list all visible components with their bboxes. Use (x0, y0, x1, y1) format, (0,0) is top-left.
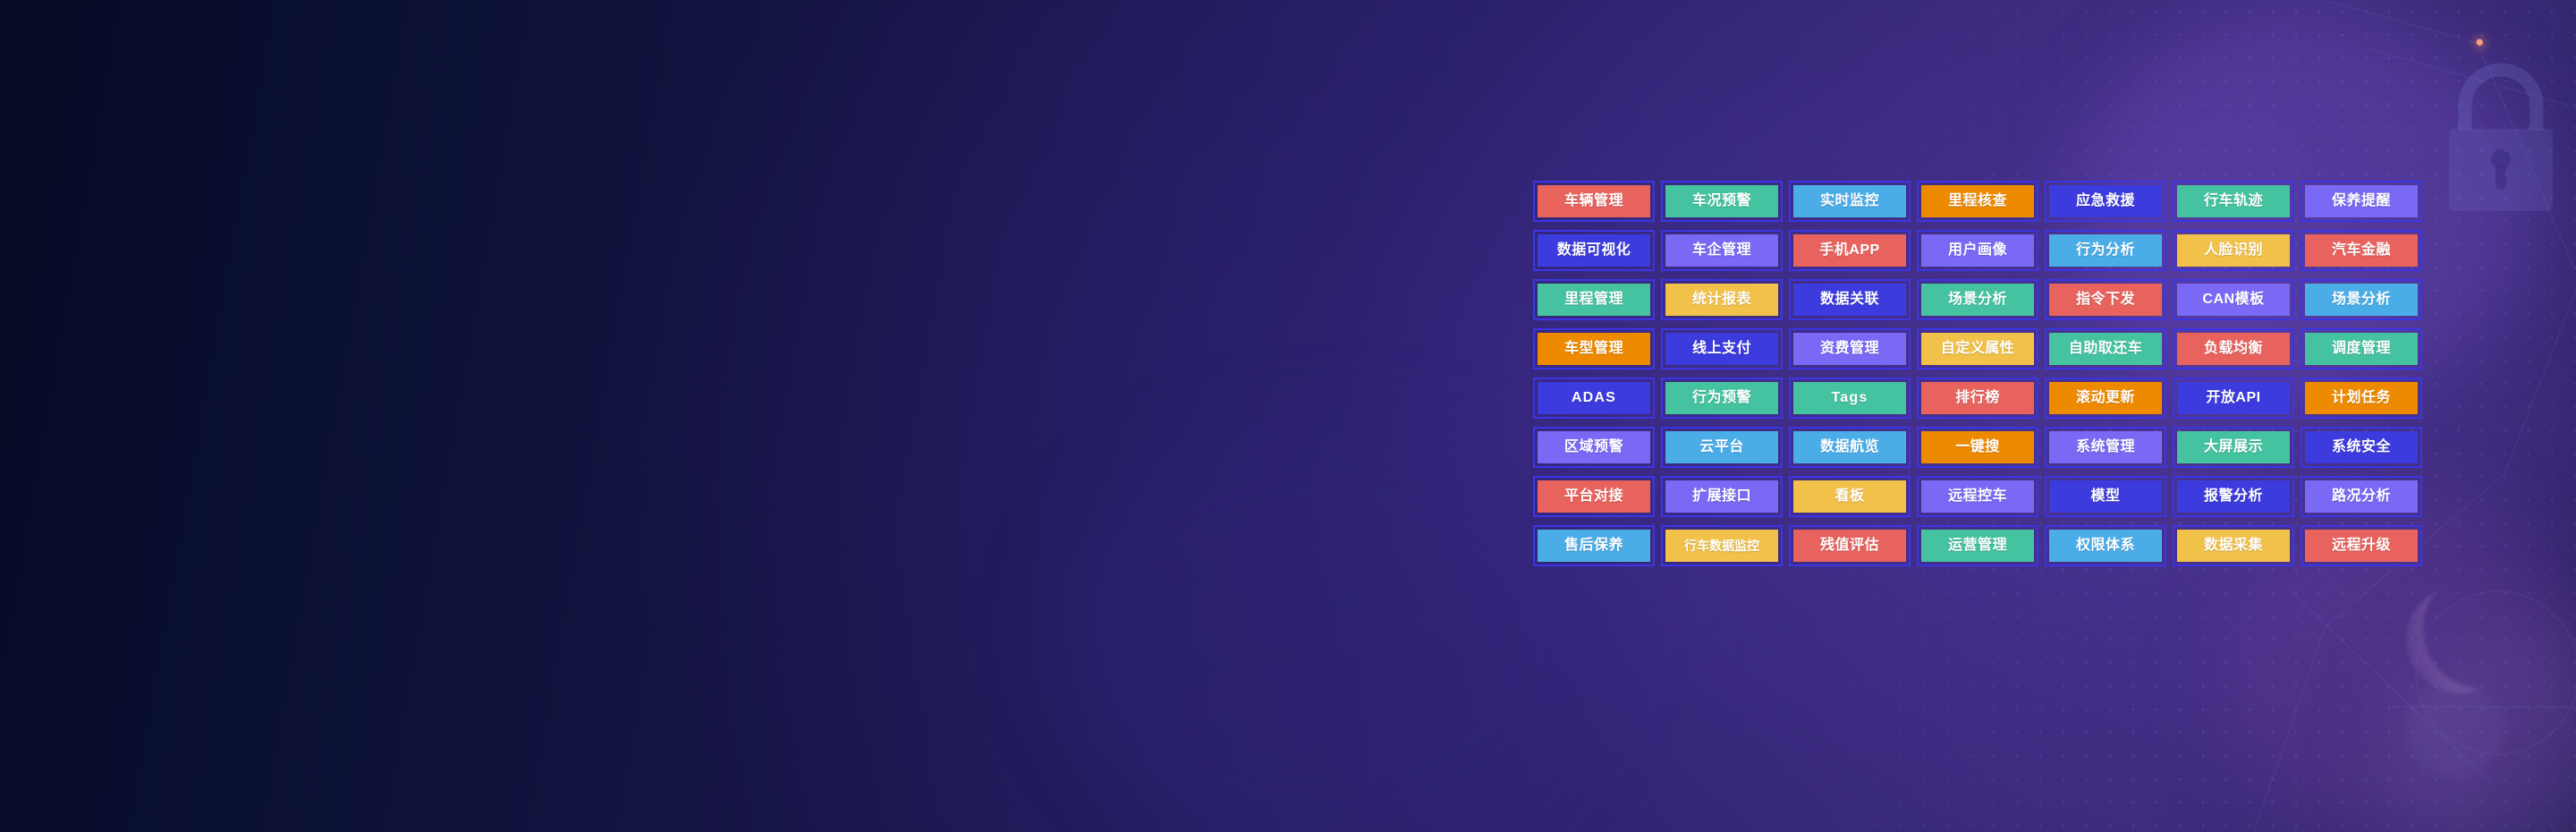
tile-frame[interactable]: 实时监控 (1789, 181, 1911, 222)
feature-tile[interactable]: 扩展接口 (1665, 480, 1778, 513)
feature-tile[interactable]: 车企管理 (1665, 234, 1778, 267)
feature-tile[interactable]: 系统安全 (2305, 431, 2418, 463)
feature-tile[interactable]: 车辆管理 (1538, 185, 1650, 217)
feature-tile[interactable]: 指令下发 (2049, 284, 2162, 316)
tile-frame[interactable]: 车型管理 (1533, 328, 1655, 369)
tile-frame[interactable]: 手机APP (1789, 230, 1911, 271)
tile-frame[interactable]: 一键搜 (1917, 427, 2038, 468)
feature-tile[interactable]: 报警分析 (2177, 480, 2290, 513)
feature-tile[interactable]: 场景分析 (2305, 284, 2418, 316)
tile-frame[interactable]: 行车轨迹 (2173, 181, 2294, 222)
tile-frame[interactable]: 应急救援 (2045, 181, 2166, 222)
feature-tile[interactable]: 行车数据监控 (1665, 530, 1778, 562)
feature-tile[interactable]: ADAS (1538, 382, 1650, 414)
feature-tile[interactable]: 车况预警 (1665, 185, 1778, 217)
feature-tile[interactable]: 行为分析 (2049, 234, 2162, 267)
tile-frame[interactable]: 行为预警 (1661, 378, 1783, 419)
tile-frame[interactable]: 车辆管理 (1533, 181, 1655, 222)
feature-tile[interactable]: 数据采集 (2177, 530, 2290, 562)
feature-tile[interactable]: 用户画像 (1921, 234, 2034, 267)
feature-tile[interactable]: 线上支付 (1665, 333, 1778, 365)
tile-frame[interactable]: 线上支付 (1661, 328, 1783, 369)
tile-frame[interactable]: 保养提醒 (2301, 181, 2422, 222)
tile-frame[interactable]: 运营管理 (1917, 525, 2038, 566)
tile-frame[interactable]: 扩展接口 (1661, 476, 1783, 517)
tile-frame[interactable]: 数据可视化 (1533, 230, 1655, 271)
tile-frame[interactable]: 指令下发 (2045, 279, 2166, 320)
feature-tile[interactable]: 数据航览 (1793, 431, 1906, 463)
feature-tile[interactable]: 远程控车 (1921, 480, 2034, 513)
tile-frame[interactable]: 计划任务 (2301, 378, 2422, 419)
crescent-shape (2406, 586, 2513, 693)
tile-frame[interactable]: 平台对接 (1533, 476, 1655, 517)
tile-frame[interactable]: 路况分析 (2301, 476, 2422, 517)
decor-ring (2415, 590, 2576, 755)
tile-frame[interactable]: 车企管理 (1661, 230, 1783, 271)
tile-frame[interactable]: ADAS (1533, 378, 1655, 419)
feature-tile[interactable]: 统计报表 (1665, 284, 1778, 316)
tile-frame[interactable]: 售后保养 (1533, 525, 1655, 566)
feature-tile[interactable]: 平台对接 (1538, 480, 1650, 513)
feature-tile[interactable]: 大屏展示 (2177, 431, 2290, 463)
tile-frame[interactable]: 统计报表 (1661, 279, 1783, 320)
tile-frame[interactable]: 云平台 (1661, 427, 1783, 468)
background-glow (1055, 420, 1610, 832)
tile-frame[interactable]: 场景分析 (1917, 279, 2038, 320)
feature-tile[interactable]: 里程核查 (1921, 185, 2034, 217)
tile-frame[interactable]: 调度管理 (2301, 328, 2422, 369)
feature-tile[interactable]: 里程管理 (1538, 284, 1650, 316)
feature-tile[interactable]: Tags (1793, 382, 1906, 414)
feature-tile[interactable]: 远程升级 (2305, 530, 2418, 562)
tile-frame[interactable]: 人脸识别 (2173, 230, 2294, 271)
feature-tile[interactable]: 人脸识别 (2177, 234, 2290, 267)
tile-frame[interactable]: 报警分析 (2173, 476, 2294, 517)
padlock-icon (2438, 52, 2563, 222)
feature-tile[interactable]: 调度管理 (2305, 333, 2418, 365)
feature-tile[interactable]: 区域预警 (1538, 431, 1650, 463)
tile-frame[interactable]: 模型 (2045, 476, 2166, 517)
tile-frame[interactable]: 残值评估 (1789, 525, 1911, 566)
feature-tile[interactable]: 滚动更新 (2049, 382, 2162, 414)
feature-tile[interactable]: 行车轨迹 (2177, 185, 2290, 217)
tile-frame[interactable]: 区域预警 (1533, 427, 1655, 468)
tile-frame[interactable]: 滚动更新 (2045, 378, 2166, 419)
feature-tile[interactable]: 云平台 (1665, 431, 1778, 463)
decor-glow-dot (2406, 680, 2504, 778)
feature-tile[interactable]: 权限体系 (2049, 530, 2162, 562)
tile-frame[interactable]: 开放API (2173, 378, 2294, 419)
feature-tile[interactable]: 模型 (2049, 480, 2162, 513)
tile-frame[interactable]: Tags (1789, 378, 1911, 419)
tile-frame[interactable]: 系统安全 (2301, 427, 2422, 468)
feature-tile[interactable]: 车型管理 (1538, 333, 1650, 365)
spark-dot (2477, 39, 2483, 46)
background-glow (2379, 617, 2576, 832)
feature-tile[interactable]: 数据可视化 (1538, 234, 1650, 267)
tile-frame[interactable]: 里程管理 (1533, 279, 1655, 320)
tile-frame[interactable]: 排行榜 (1917, 378, 2038, 419)
feature-tile[interactable]: 系统管理 (2049, 431, 2162, 463)
feature-tile[interactable]: 自助取还车 (2049, 333, 2162, 365)
page-root: 车辆管理车况预警实时监控里程核查应急救援行车轨迹保养提醒数据可视化车企管理手机A… (0, 0, 2576, 832)
tile-frame[interactable]: 用户画像 (1917, 230, 2038, 271)
tile-frame[interactable]: 系统管理 (2045, 427, 2166, 468)
feature-tile[interactable]: 排行榜 (1921, 382, 2034, 414)
tile-frame[interactable]: 负载均衡 (2173, 328, 2294, 369)
tile-frame[interactable]: 自助取还车 (2045, 328, 2166, 369)
tile-frame[interactable]: 权限体系 (2045, 525, 2166, 566)
tile-frame[interactable]: 自定义属性 (1917, 328, 2038, 369)
feature-tile[interactable]: 汽车金融 (2305, 234, 2418, 267)
feature-tile[interactable]: 保养提醒 (2305, 185, 2418, 217)
tile-frame[interactable]: CAN模板 (2173, 279, 2294, 320)
feature-tile[interactable]: 数据关联 (1793, 284, 1906, 316)
tile-frame[interactable]: 数据采集 (2173, 525, 2294, 566)
tile-frame[interactable]: 看板 (1789, 476, 1911, 517)
tile-frame[interactable]: 远程控车 (1917, 476, 2038, 517)
feature-tile[interactable]: 路况分析 (2305, 480, 2418, 513)
tile-frame[interactable]: 车况预警 (1661, 181, 1783, 222)
feature-tile[interactable]: 售后保养 (1538, 530, 1650, 562)
tile-frame[interactable]: 数据航览 (1789, 427, 1911, 468)
feature-tile-grid: 车辆管理车况预警实时监控里程核查应急救援行车轨迹保养提醒数据可视化车企管理手机A… (1533, 181, 2422, 566)
feature-tile[interactable]: 计划任务 (2305, 382, 2418, 414)
tile-frame[interactable]: 数据关联 (1789, 279, 1911, 320)
feature-tile[interactable]: 实时监控 (1793, 185, 1906, 217)
tile-frame[interactable]: 大屏展示 (2173, 427, 2294, 468)
tile-frame[interactable]: 里程核查 (1917, 181, 2038, 222)
feature-tile[interactable]: 残值评估 (1793, 530, 1906, 562)
feature-tile[interactable]: CAN模板 (2177, 284, 2290, 316)
feature-tile[interactable]: 场景分析 (1921, 284, 2034, 316)
feature-tile[interactable]: 资费管理 (1793, 333, 1906, 365)
tile-frame[interactable]: 行为分析 (2045, 230, 2166, 271)
feature-tile[interactable]: 看板 (1793, 480, 1906, 513)
tile-frame[interactable]: 场景分析 (2301, 279, 2422, 320)
feature-tile[interactable]: 应急救援 (2049, 185, 2162, 217)
feature-tile[interactable]: 运营管理 (1921, 530, 2034, 562)
feature-tile[interactable]: 行为预警 (1665, 382, 1778, 414)
tile-frame[interactable]: 汽车金融 (2301, 230, 2422, 271)
feature-tile[interactable]: 负载均衡 (2177, 333, 2290, 365)
tile-frame[interactable]: 远程升级 (2301, 525, 2422, 566)
tile-frame[interactable]: 行车数据监控 (1661, 525, 1783, 566)
feature-tile[interactable]: 一键搜 (1921, 431, 2034, 463)
tile-frame[interactable]: 资费管理 (1789, 328, 1911, 369)
feature-tile[interactable]: 自定义属性 (1921, 333, 2034, 365)
feature-tile[interactable]: 手机APP (1793, 234, 1906, 267)
feature-tile[interactable]: 开放API (2177, 382, 2290, 414)
